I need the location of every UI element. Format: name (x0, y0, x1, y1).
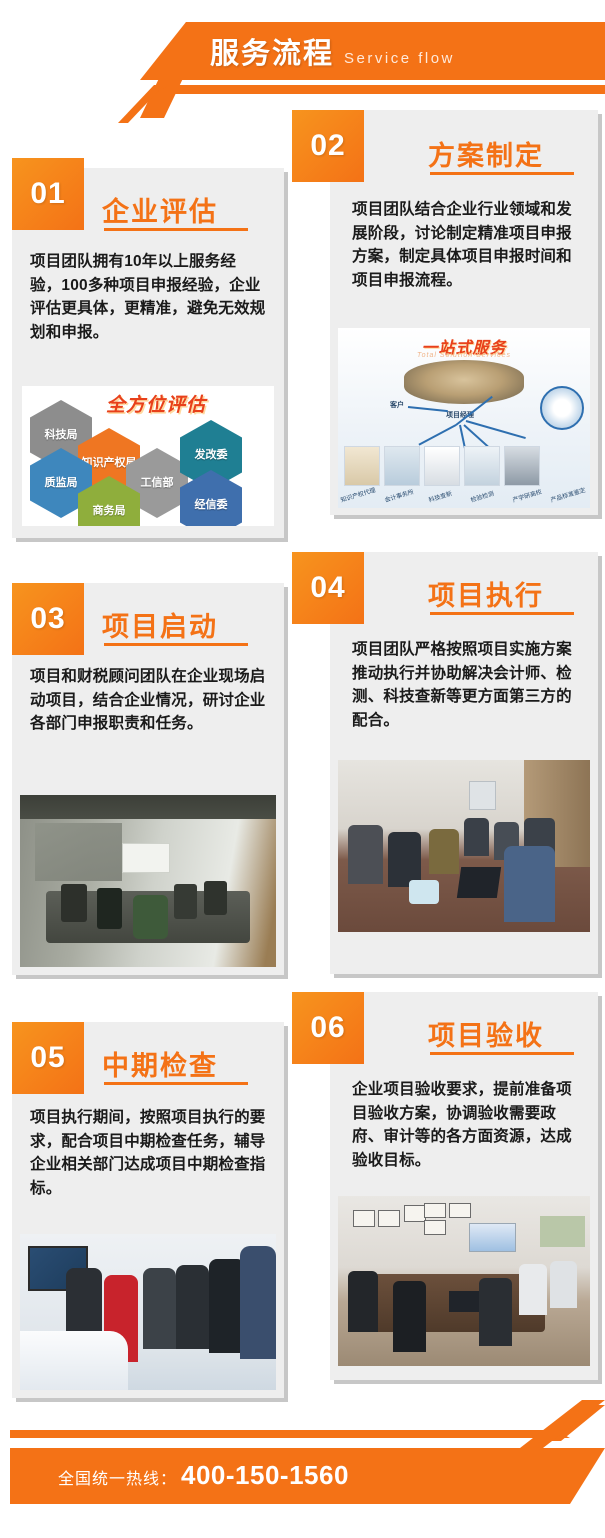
card-01-body: 项目团队拥有10年以上服务经验，100多种项目申报经验，企业评估更具体，更精准，… (30, 250, 266, 344)
card-02-figure-one-stop-service: 一站式服务 Total Solution Services 客户 项目经理 知识… (338, 328, 590, 508)
one-stop-service-caption: 会计事务所 (383, 487, 414, 504)
page-subtitle: Service flow (344, 50, 455, 67)
footer-stripe (10, 1430, 570, 1438)
service-thumb-ip (344, 446, 380, 486)
card-06-photo: 验收会议室照片 (338, 1196, 590, 1366)
service-thumb-novelty (424, 446, 460, 486)
card-03-photo: 会议室启动会照片 (20, 795, 276, 967)
card-01-title-rule (104, 228, 248, 231)
card-04-body: 项目团队严格按照项目实施方案推动执行并协助解决会计师、检测、科技查新等更方面第三… (352, 638, 584, 732)
hexagon-label: 工信部 (141, 477, 174, 490)
footer-hotline-number[interactable]: 400-150-1560 (181, 1460, 349, 1491)
photo-alt: 展厅参观交流照片 (20, 1378, 276, 1388)
photo-alt: 验收会议室照片 (338, 1354, 590, 1364)
process-card-06[interactable]: 项目验收 企业项目验收要求，提前准备项目验收方案，协调验收需要政府、审计等的各方… (330, 992, 598, 1380)
card-04-number-badge: 04 (292, 552, 364, 624)
card-06-title-rule (430, 1052, 574, 1055)
photo-alt: 团队会议桌办公照片 (338, 920, 590, 930)
card-02-title-rule (430, 172, 574, 175)
hexagon-jingxin-wei: 经信委 (180, 470, 242, 526)
footer-hotline[interactable]: 全国统一热线： 400-150-1560 (58, 1460, 349, 1491)
footer-hotline-label: 全国统一热线： (58, 1465, 177, 1489)
hexagon-chart-title: 全方位评估 (106, 390, 206, 417)
card-03-body: 项目和财税顾问团队在企业现场启动项目，结合企业情况，研讨企业各部门申报职责和任务… (30, 665, 266, 736)
card-06-number-badge: 06 (292, 992, 364, 1064)
card-02-title: 方案制定 (428, 134, 544, 173)
card-04-title-rule (430, 612, 574, 615)
card-05-title-rule (104, 1082, 248, 1085)
certification-seal-icon (540, 386, 584, 430)
card-02-body: 项目团队结合企业行业领域和发展阶段，讨论制定精准项目申报方案，制定具体项目申报时… (352, 198, 584, 292)
process-card-04[interactable]: 项目执行 项目团队严格按照项目实施方案推动执行并协助解决会计师、检测、科技查新等… (330, 552, 598, 974)
card-06-body: 企业项目验收要求，提前准备项目验收方案，协调验收需要政府、审计等的各方面资源，达… (352, 1078, 584, 1172)
service-thumb-testing (464, 446, 500, 486)
one-stop-service-caption: 产品标准鉴定 (549, 485, 586, 504)
hexagon-label: 商务局 (93, 505, 126, 518)
hexagon-label: 经信委 (195, 499, 228, 512)
one-stop-service-caption: 知识产权代理 (339, 485, 376, 504)
meeting-room-photo: 会议室启动会照片 (20, 795, 276, 967)
header-title-group: 服务流程 Service flow (210, 30, 455, 72)
one-stop-service-subtitle: Total Solution Services (338, 352, 590, 359)
photo-alt: 会议室启动会照片 (20, 955, 276, 965)
card-05-photo: 展厅参观交流照片 (20, 1234, 276, 1390)
card-03-title: 项目启动 (102, 605, 218, 644)
one-stop-service-caption: 科技查新 (427, 488, 453, 504)
one-stop-service-hero-photo (404, 360, 524, 404)
card-01-number-badge: 01 (12, 158, 84, 230)
header-stripe (155, 85, 605, 94)
card-06-title: 项目验收 (428, 1014, 544, 1053)
card-03-number-badge: 03 (12, 583, 84, 655)
hexagon-label: 发改委 (195, 449, 228, 462)
service-thumb-university (504, 446, 540, 486)
one-stop-service-caption: 检验检测 (469, 488, 495, 504)
card-01-figure-hexagon-chart: 全方位评估 科技局 知识产权局 质监局 工信部 商务局 发改委 经信委 (22, 386, 274, 526)
footer-wedge-decoration (520, 1400, 605, 1448)
team-working-photo: 团队会议桌办公照片 (338, 760, 590, 932)
card-05-body: 项目执行期间，按照项目执行的要求，配合项目中期检查任务，辅导企业相关部门达成项目… (30, 1106, 266, 1200)
service-thumb-accounting (384, 446, 420, 486)
one-stop-service-canvas: 一站式服务 Total Solution Services 客户 项目经理 知识… (338, 328, 590, 508)
hexagon-label: 科技局 (45, 429, 78, 442)
card-02-number-badge: 02 (292, 110, 364, 182)
one-stop-service-caption: 产学研高校 (511, 487, 542, 504)
card-05-number-badge: 05 (12, 1022, 84, 1094)
showroom-visit-photo: 展厅参观交流照片 (20, 1234, 276, 1390)
page-header: 服务流程 Service flow (0, 0, 605, 110)
card-04-title: 项目执行 (428, 574, 544, 613)
card-03-title-rule (104, 643, 248, 646)
one-stop-service-node-customer: 客户 (390, 400, 404, 410)
process-card-02[interactable]: 方案制定 项目团队结合企业行业领域和发展阶段，讨论制定精准项目申报方案，制定具体… (330, 110, 598, 515)
arrow-icon (408, 406, 448, 412)
card-04-photo: 团队会议桌办公照片 (338, 760, 590, 932)
card-01-title: 企业评估 (102, 190, 218, 229)
acceptance-meeting-photo: 验收会议室照片 (338, 1196, 590, 1366)
hexagon-label: 质监局 (45, 477, 78, 490)
card-05-title: 中期检查 (102, 1044, 218, 1083)
page-title: 服务流程 (210, 30, 334, 72)
arrow-icon (418, 424, 456, 445)
